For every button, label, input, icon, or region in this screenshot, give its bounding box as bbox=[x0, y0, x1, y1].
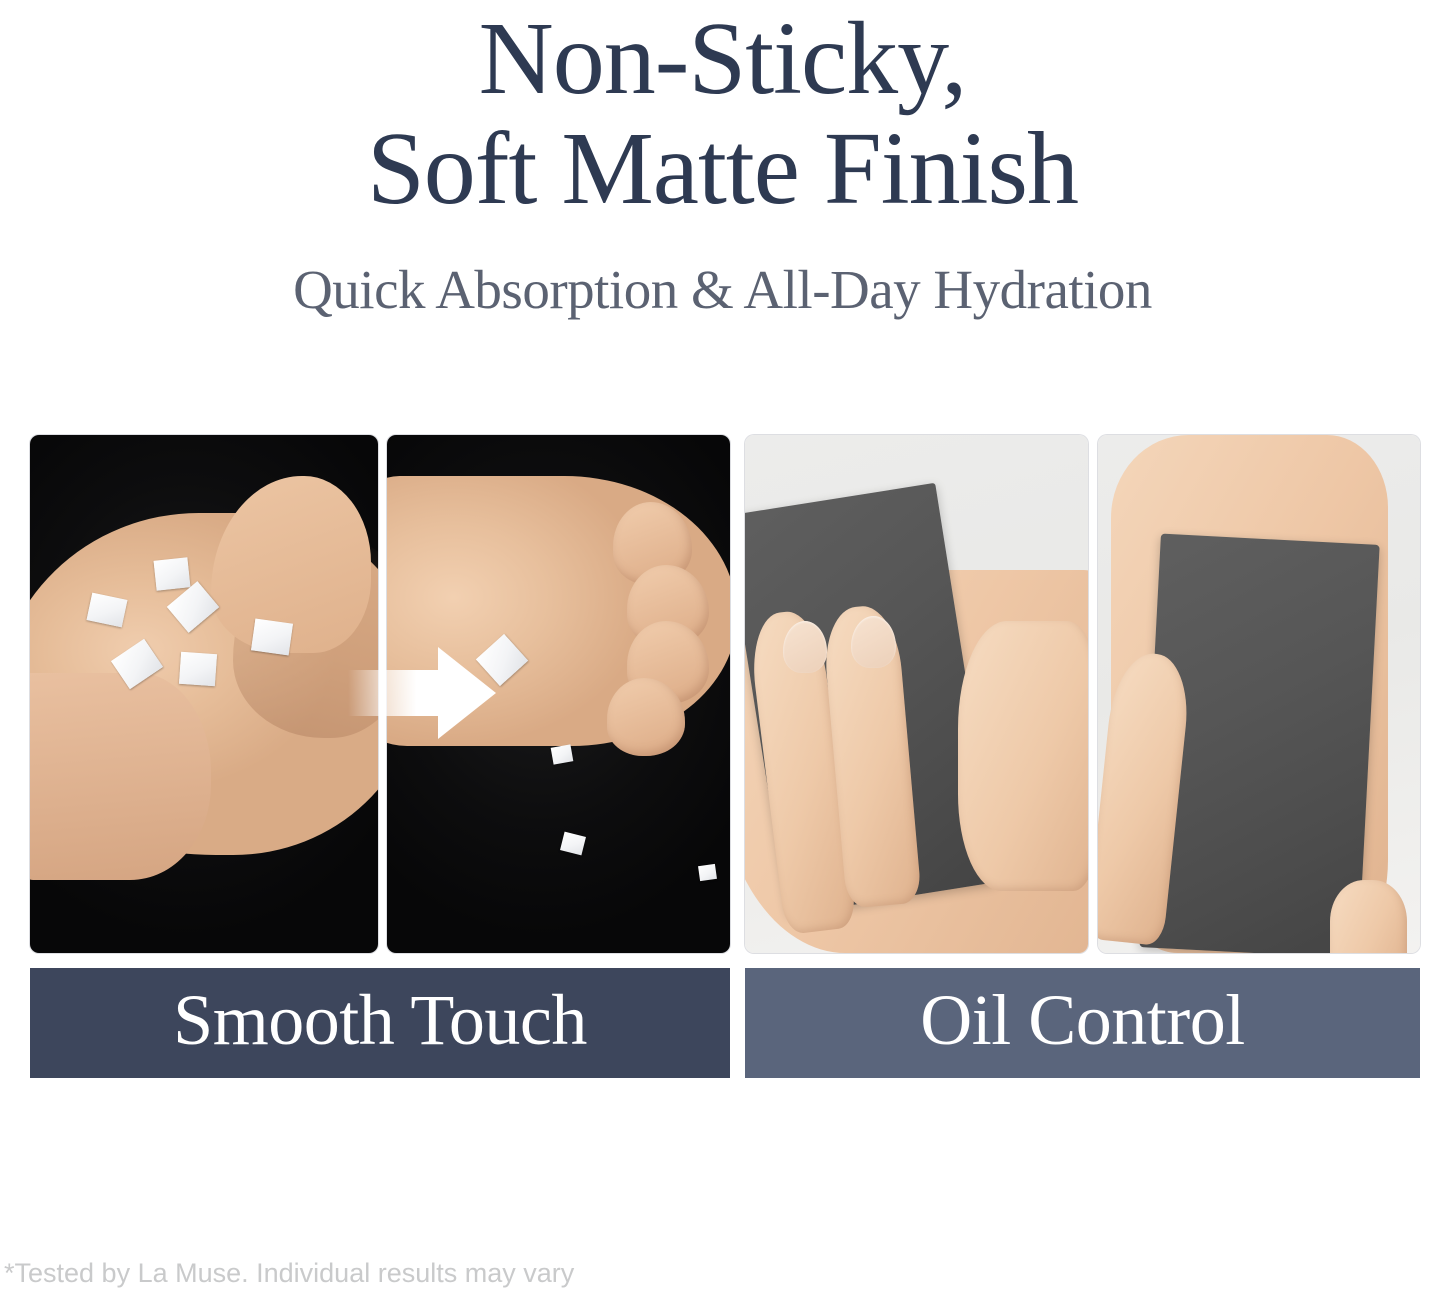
headline-line-1: Non-Sticky, bbox=[0, 4, 1445, 114]
paper-flake bbox=[179, 651, 217, 685]
smooth-touch-after-photo bbox=[387, 435, 730, 953]
hand-wrist bbox=[30, 673, 211, 880]
fingernail bbox=[783, 621, 828, 673]
smooth-touch-photo-pair bbox=[30, 435, 730, 953]
paper-flake bbox=[550, 744, 573, 764]
smooth-touch-caption-bar: Smooth Touch bbox=[30, 968, 730, 1078]
paper-flake bbox=[698, 864, 717, 881]
oil-control-label: Oil Control bbox=[920, 984, 1245, 1062]
supporting-finger bbox=[1330, 880, 1407, 953]
page-subtitle: Quick Absorption & All-Day Hydration bbox=[0, 224, 1445, 321]
paper-flake bbox=[251, 619, 293, 656]
caption-bars: Smooth Touch Oil Control bbox=[0, 968, 1445, 1080]
smooth-touch-before-photo bbox=[30, 435, 378, 953]
header: Non-Sticky, Soft Matte Finish Quick Abso… bbox=[0, 0, 1445, 321]
page-title: Non-Sticky, Soft Matte Finish bbox=[0, 0, 1445, 224]
oil-control-caption-bar: Oil Control bbox=[745, 968, 1420, 1078]
oil-control-before-photo bbox=[745, 435, 1088, 953]
headline-line-2: Soft Matte Finish bbox=[0, 114, 1445, 224]
oil-control-after-photo bbox=[1098, 435, 1420, 953]
hand-knuckles bbox=[958, 621, 1088, 890]
smooth-touch-label: Smooth Touch bbox=[173, 984, 587, 1062]
comparison-panels bbox=[0, 435, 1445, 955]
oil-control-photo-pair bbox=[745, 435, 1420, 953]
fingernail bbox=[851, 616, 896, 668]
disclaimer-footnote: *Tested by La Muse. Individual results m… bbox=[4, 1258, 574, 1289]
paper-flake bbox=[154, 558, 191, 591]
